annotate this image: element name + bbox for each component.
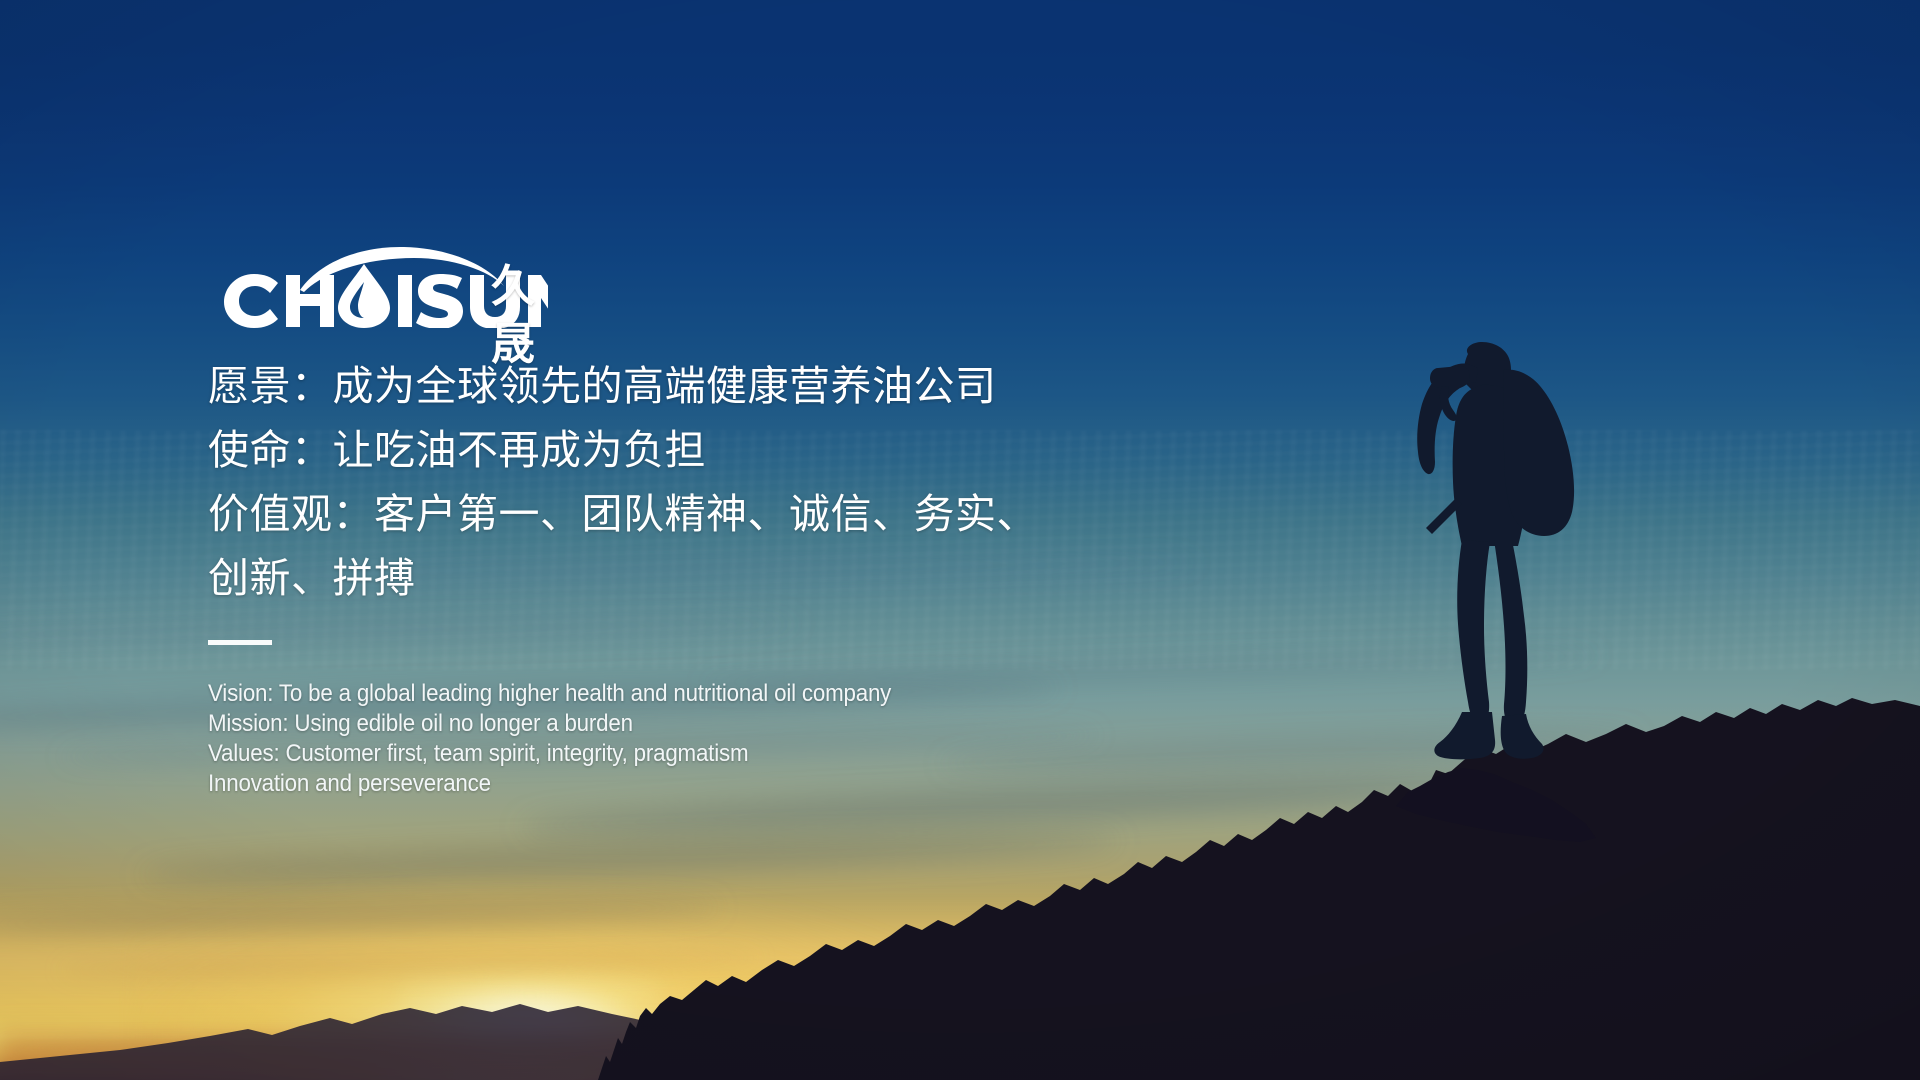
section-divider: [208, 640, 272, 645]
cn-line-vision: 愿景：成为全球领先的高端健康营养油公司: [208, 354, 1328, 418]
hiker-silhouette: [1382, 340, 1612, 800]
hiker-left-boot: [1434, 712, 1495, 759]
logo-water-drop-icon: [338, 264, 390, 328]
slide-canvas: 久晟 愿景：成为全球领先的高端健康营养油公司 使命：让吃油不再成为负担 价值观：…: [0, 0, 1920, 1080]
en-line-vision: Vision: To be a global leading higher he…: [208, 679, 1250, 709]
mission-statement-cn: 愿景：成为全球领先的高端健康营养油公司 使命：让吃油不再成为负担 价值观：客户第…: [208, 354, 1328, 610]
logo-letter-c: [224, 274, 278, 328]
brand-logo[interactable]: 久晟: [208, 246, 548, 328]
en-line-values: Values: Customer first, team spirit, int…: [208, 739, 1250, 769]
logo-letter-s: [416, 274, 463, 328]
en-line-values-cont: Innovation and perseverance: [208, 769, 1250, 799]
hiker-right-boot: [1501, 714, 1544, 759]
mission-statement-en: Vision: To be a global leading higher he…: [208, 679, 1328, 799]
cn-line-values: 价值观：客户第一、团队精神、诚信、务实、: [208, 482, 1328, 546]
hiker-backpack: [1503, 370, 1574, 536]
en-line-mission: Mission: Using edible oil no longer a bu…: [208, 709, 1250, 739]
cn-line-mission: 使命：让吃油不再成为负担: [208, 418, 1328, 482]
hiker-right-leg: [1494, 540, 1527, 726]
hiker-left-leg: [1457, 540, 1490, 724]
logo-letter-i: [398, 275, 412, 327]
cn-line-values-cont: 创新、拼搏: [208, 546, 1328, 610]
logo-cjk-wordmark: 久晟: [491, 258, 548, 374]
hiker-binoculars: [1430, 366, 1470, 388]
slide-content: 久晟 愿景：成为全球领先的高端健康营养油公司 使命：让吃油不再成为负担 价值观：…: [208, 246, 1328, 799]
